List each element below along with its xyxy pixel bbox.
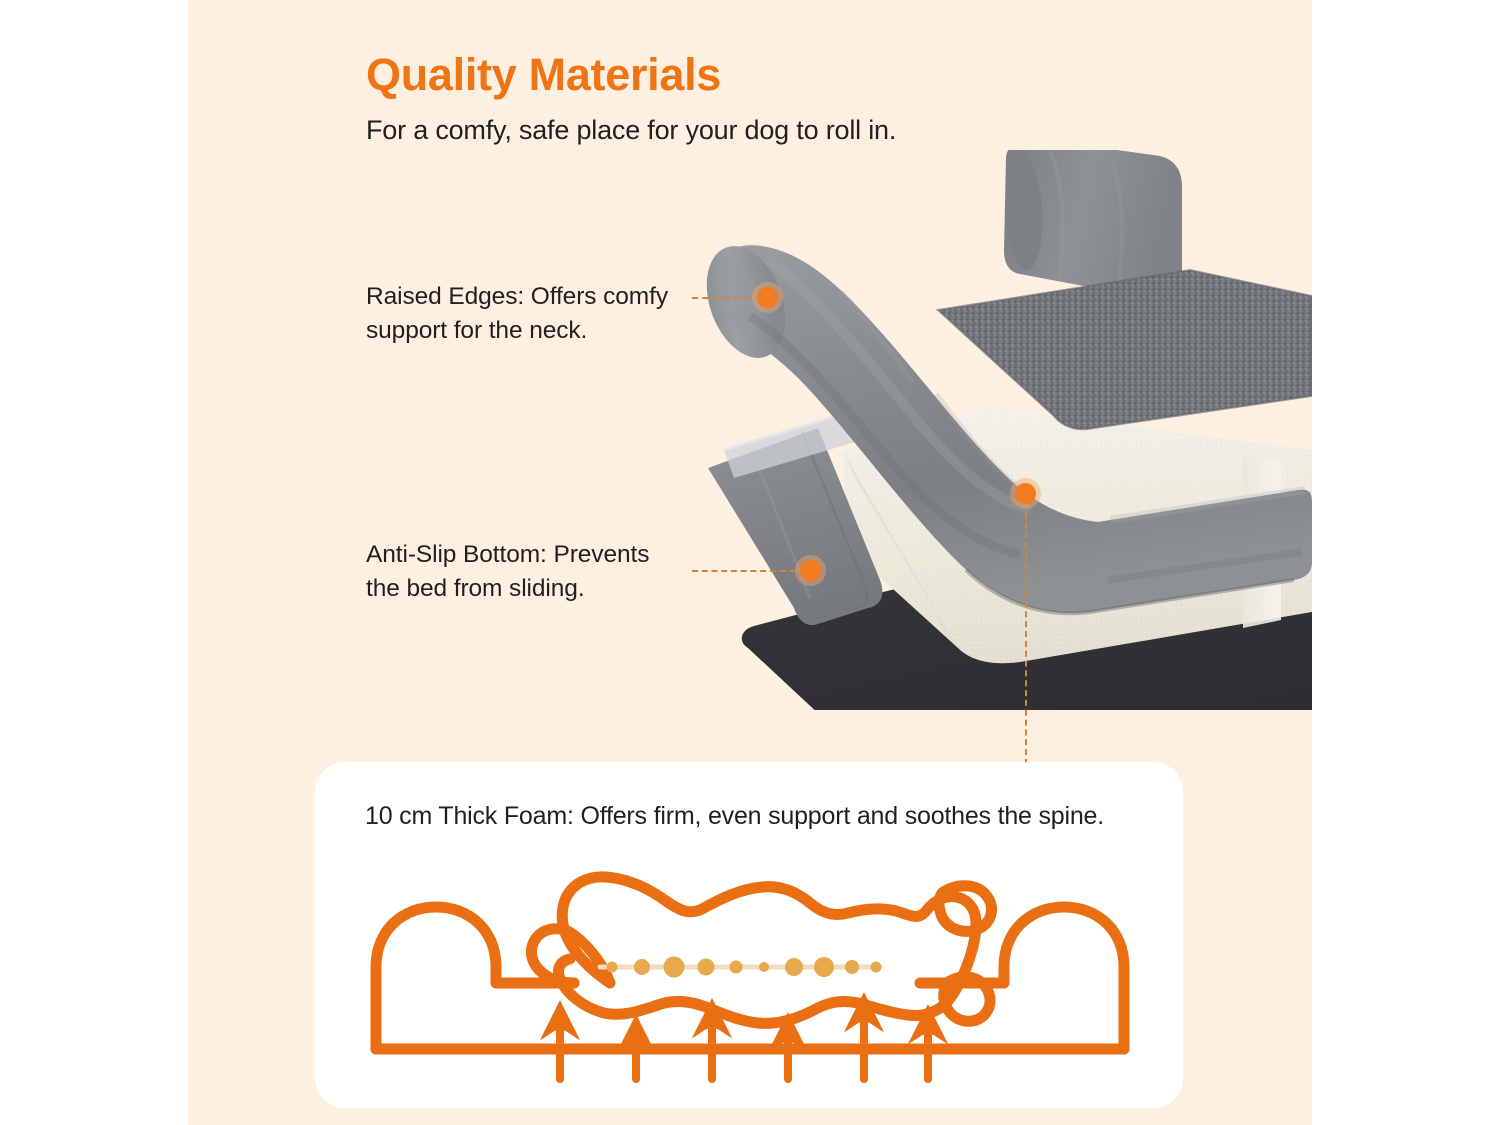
dog-ear-upper (939, 886, 992, 932)
marker-dot-thick-foam[interactable] (1015, 483, 1036, 504)
thick-foam-caption: 10 cm Thick Foam: Offers firm, even supp… (365, 800, 1153, 833)
leader-line-thick-foam (1025, 503, 1027, 765)
callout-raised-edges-label: Raised Edges: Offers comfy support for t… (366, 280, 696, 348)
callout-anti-slip-label: Anti-Slip Bottom: Prevents the bed from … (366, 538, 696, 606)
page-title: Quality Materials (366, 50, 1186, 100)
spine-indicator (600, 957, 882, 978)
dog-body (558, 877, 976, 1024)
dog-support-diagram (360, 867, 1140, 1092)
marker-dot-raised-edges[interactable] (757, 287, 778, 308)
header: Quality Materials For a comfy, safe plac… (366, 50, 1186, 146)
infographic-page: Quality Materials For a comfy, safe plac… (0, 0, 1500, 1125)
sleeping-surface-texture (938, 270, 1312, 429)
product-photo (690, 150, 1312, 710)
leader-line-anti-slip (692, 570, 805, 572)
leader-line-raised-edges (692, 297, 760, 299)
thick-foam-card: 10 cm Thick Foam: Offers firm, even supp… (315, 762, 1183, 1108)
marker-dot-anti-slip[interactable] (800, 560, 821, 581)
page-subtitle: For a comfy, safe place for your dog to … (366, 114, 1186, 146)
